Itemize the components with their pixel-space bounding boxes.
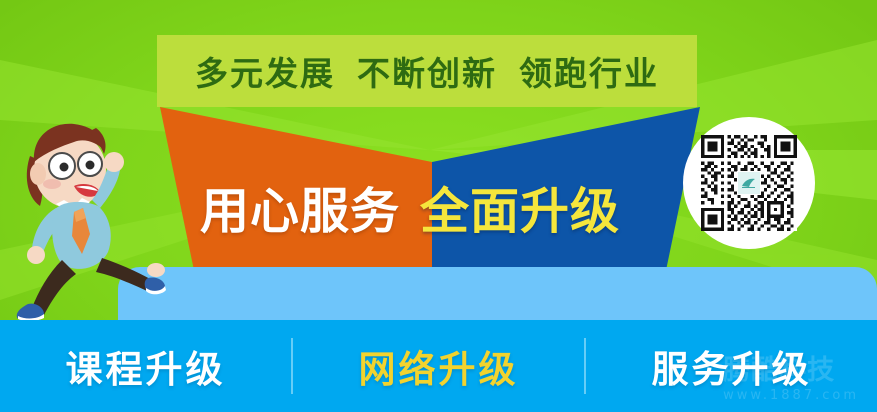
bottom-item-service[interactable]: 服务升级 xyxy=(586,339,877,393)
headline-orange-shape xyxy=(160,107,432,280)
bottom-bar: 腾酷科技www.1887.com 课程升级 网络升级 服务升级 xyxy=(0,320,877,412)
blue-plate-fill xyxy=(118,290,877,320)
tagline-segment-2: 不断创新 xyxy=(357,54,497,93)
promo-banner: 多元发展不断创新领跑行业 用心服务 全面升级 xyxy=(0,0,877,412)
bottom-items: 课程升级 网络升级 服务升级 xyxy=(0,320,877,412)
tagline-text: 多元发展不断创新领跑行业 xyxy=(195,47,659,95)
tagline-segment-3: 领跑行业 xyxy=(519,54,659,93)
qr-center-logo xyxy=(737,171,761,195)
qr-code-circle[interactable] xyxy=(683,117,815,249)
tagline-segment-1: 多元发展 xyxy=(195,54,335,93)
bottom-item-course[interactable]: 课程升级 xyxy=(0,339,291,393)
qr-code[interactable] xyxy=(701,135,797,231)
bottom-item-network[interactable]: 网络升级 xyxy=(293,339,584,393)
company-logo-icon xyxy=(741,177,757,189)
running-boy-mascot xyxy=(4,112,172,322)
tagline-band: 多元发展不断创新领跑行业 xyxy=(157,35,697,107)
headline-blue-shape xyxy=(432,107,700,280)
